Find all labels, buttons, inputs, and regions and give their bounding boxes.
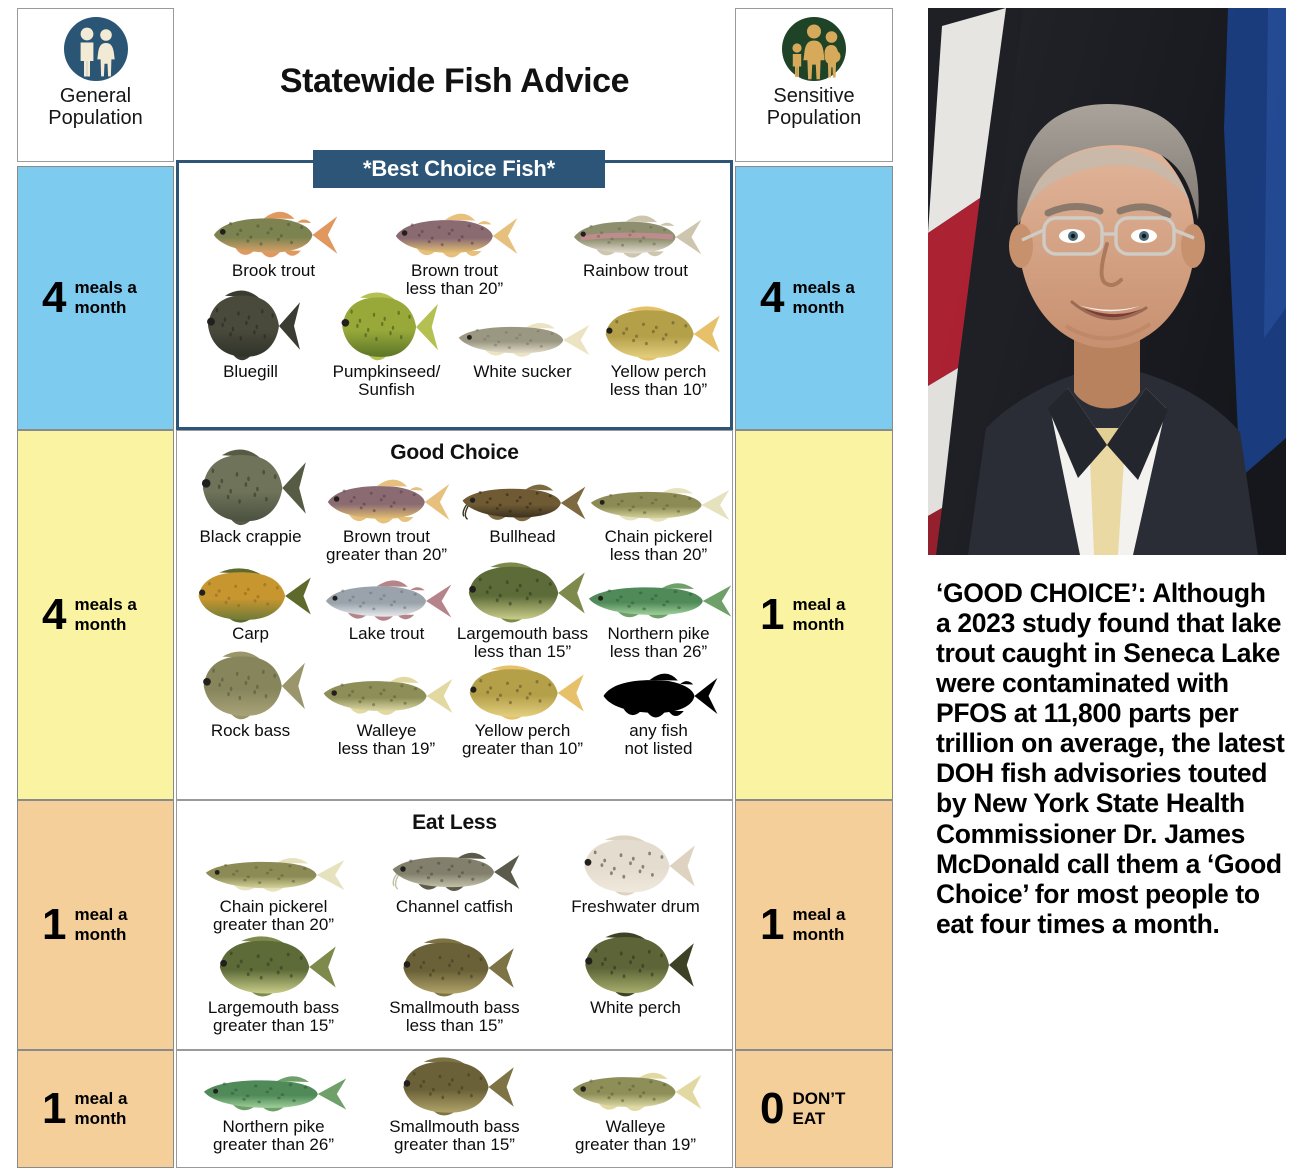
fish-label: Pumpkinseed/ Sunfish (333, 363, 441, 399)
meal-count: 1 (760, 593, 784, 637)
fish-entry: any fish not listed (591, 663, 727, 758)
fish-entry: Bullhead (455, 469, 591, 546)
fish-row: Rock bass Walleye less than 19” Yellow p… (177, 663, 732, 758)
carp-illustration (190, 566, 312, 624)
fish-entry: Smallmouth bass greater than 15” (364, 1059, 545, 1154)
walleye-illustration (570, 1059, 702, 1117)
meal-unit: DON’T EAT (792, 1089, 845, 1128)
sensitive-meals-eat-less: 1 meal a month (735, 800, 893, 1050)
fish-entry: Northern pike less than 26” (591, 566, 727, 661)
fish-entry: Largemouth bass less than 15” (455, 566, 591, 661)
fish-row: Northern pike greater than 26” Smallmout… (177, 1059, 732, 1154)
pumpkinseed-illustration (335, 304, 439, 362)
fish-label: any fish not listed (624, 722, 692, 758)
general-meals-eat-less: 1 meal a month (17, 800, 174, 1050)
fish-label: Northern pike less than 26” (607, 625, 709, 661)
fish-label: Walleye less than 19” (338, 722, 435, 758)
fish-entry: Pumpkinseed/ Sunfish (319, 304, 455, 399)
meal-count: 1 (760, 903, 784, 947)
sensitive-meals-good-choice: 1 meal a month (735, 430, 893, 800)
sensitive-meals-best-choice: 4 meals a month (735, 166, 893, 430)
channel-catfish-illustration (390, 839, 520, 897)
fish-row: Carp Lake trout Largemouth bass le (177, 566, 732, 661)
meal-count: 4 (760, 276, 784, 320)
freshwater-drum-illustration (576, 839, 696, 897)
fish-entry: Walleye greater than 19” (545, 1059, 726, 1154)
fish-row: Black crappie Brown trout greater than 2… (177, 469, 732, 564)
rock-bass-illustration (196, 663, 306, 721)
fish-label: Walleye greater than 19” (575, 1118, 696, 1154)
fish-label: Rainbow trout (583, 262, 688, 280)
fish-entry: Lake trout (319, 566, 455, 643)
meal-count: 4 (42, 593, 66, 637)
meal-count: 0 (760, 1087, 784, 1131)
chain-pickerel-illustration (588, 469, 730, 527)
smallmouth-bass-illustration (395, 1059, 515, 1117)
fish-entry: Yellow perch greater than 10” (455, 663, 591, 758)
fish-entry: Yellow perch less than 10” (591, 304, 727, 399)
sensitive-population-label: Sensitive Population (767, 85, 862, 129)
fish-label: Bullhead (489, 528, 555, 546)
photo-caption: ‘GOOD CHOICE’: Although a 2023 study fou… (936, 578, 1286, 939)
any-fish-silhouette-illustration (600, 663, 718, 721)
general-population-header: General Population (17, 8, 174, 162)
rainbow-trout-illustration (570, 203, 702, 261)
fish-entry: Bluegill (183, 304, 319, 381)
fish-label: Carp (232, 625, 269, 643)
brook-trout-illustration (210, 203, 338, 261)
fish-label: White perch (590, 999, 681, 1017)
fish-entry: Largemouth bass greater than 15” (183, 940, 364, 1035)
eat-less-title: Eat Less (177, 811, 732, 835)
fish-label: Smallmouth bass less than 15” (389, 999, 519, 1035)
fish-label: Smallmouth bass greater than 15” (389, 1118, 519, 1154)
fish-entry: Channel catfish (364, 839, 545, 916)
meal-unit: meal a month (792, 595, 845, 634)
meal-count: 4 (42, 276, 66, 320)
fish-label: Lake trout (349, 625, 425, 643)
general-meals-best-choice: 4 meals a month (17, 166, 174, 430)
best-choice-panel: Brook trout Brown trout less than 20” (176, 160, 733, 430)
fish-entry: Rock bass (183, 663, 319, 740)
meal-unit: meals a month (74, 278, 136, 317)
meal-count: 1 (42, 1087, 66, 1131)
family-icon (780, 15, 848, 83)
meal-count: 1 (42, 903, 66, 947)
white-sucker-illustration (456, 304, 590, 362)
best-choice-banner: *Best Choice Fish* (313, 150, 605, 188)
fish-row: Brook trout Brown trout less than 20” (179, 203, 730, 298)
yellow-perch-illustration (597, 304, 721, 362)
fish-label: Largemouth bass greater than 15” (208, 999, 339, 1035)
fish-entry: Carp (183, 566, 319, 643)
bluegill-illustration (201, 304, 301, 362)
fish-label: Yellow perch greater than 10” (462, 722, 583, 758)
fish-row: Largemouth bass greater than 15” Smallmo… (177, 940, 732, 1035)
lake-trout-illustration (322, 566, 452, 624)
fish-label: Northern pike greater than 26” (213, 1118, 334, 1154)
good-choice-panel: Good Choice Black crappie Bro (176, 430, 733, 800)
smallmouth-bass-illustration (395, 940, 515, 998)
fish-row: Chain pickerel greater than 20” Channel … (177, 839, 732, 934)
brown-trout-illustration (392, 203, 518, 261)
fish-label: Largemouth bass less than 15” (457, 625, 588, 661)
dont-eat-panel: Northern pike greater than 26” Smallmout… (176, 1050, 733, 1168)
sensitive-population-header: Sensitive Population (735, 8, 893, 162)
fish-entry: White sucker (455, 304, 591, 381)
fish-label: Yellow perch less than 10” (610, 363, 707, 399)
fish-entry: Chain pickerel greater than 20” (183, 839, 364, 934)
fish-label: Channel catfish (396, 898, 513, 916)
meal-unit: meal a month (74, 905, 127, 944)
fish-label: Brown trout greater than 20” (326, 528, 447, 564)
fish-label: Chain pickerel greater than 20” (213, 898, 334, 934)
portrait-photo (928, 8, 1286, 555)
eat-less-panel: Eat Less Chain pickerel greater than 20” (176, 800, 733, 1050)
northern-pike-illustration (586, 566, 732, 624)
chain-pickerel-illustration (203, 839, 345, 897)
fish-entry: Chain pickerel less than 20” (591, 469, 727, 564)
northern-pike-illustration (201, 1059, 347, 1117)
largemouth-bass-illustration (211, 940, 337, 998)
sidebar: ‘GOOD CHOICE’: Although a 2023 study fou… (920, 0, 1294, 1176)
two-people-icon (62, 15, 130, 83)
fish-label: Brook trout (232, 262, 315, 280)
fish-entry: Smallmouth bass less than 15” (364, 940, 545, 1035)
statewide-fish-advice-table: Statewide Fish Advice General Population (0, 0, 920, 1176)
fish-row: Bluegill Pumpkinseed/ Sunfish White suck… (179, 304, 730, 399)
fish-entry: White perch (545, 940, 726, 1017)
meal-unit: meals a month (74, 595, 136, 634)
fish-label: White sucker (473, 363, 571, 381)
fish-entry: Freshwater drum (545, 839, 726, 916)
general-meals-dont-eat: 1 meal a month (17, 1050, 174, 1168)
fish-entry: Northern pike greater than 26” (183, 1059, 364, 1154)
general-population-label: General Population (48, 85, 143, 129)
page-title: Statewide Fish Advice (174, 62, 735, 101)
brown-trout-illustration (324, 469, 450, 527)
fish-label: Chain pickerel less than 20” (605, 528, 713, 564)
fish-entry: Brown trout greater than 20” (319, 469, 455, 564)
fish-label: Rock bass (211, 722, 290, 740)
fish-label: Black crappie (199, 528, 301, 546)
white-perch-illustration (577, 940, 695, 998)
black-crappie-illustration (195, 469, 307, 527)
meal-unit: meal a month (792, 905, 845, 944)
largemouth-bass-illustration (460, 566, 586, 624)
fish-label: Bluegill (223, 363, 278, 381)
meal-unit: meal a month (74, 1089, 127, 1128)
fish-label: Freshwater drum (571, 898, 699, 916)
bullhead-illustration (460, 469, 586, 527)
fish-entry: Brown trout less than 20” (364, 203, 545, 298)
fish-entry: Walleye less than 19” (319, 663, 455, 758)
fish-entry: Brook trout (183, 203, 364, 280)
fish-entry: Rainbow trout (545, 203, 726, 280)
meal-unit: meals a month (792, 278, 854, 317)
yellow-perch-illustration (461, 663, 585, 721)
general-meals-good-choice: 4 meals a month (17, 430, 174, 800)
fish-entry: Black crappie (183, 469, 319, 546)
walleye-illustration (321, 663, 453, 721)
sensitive-meals-dont-eat: 0 DON’T EAT (735, 1050, 893, 1168)
